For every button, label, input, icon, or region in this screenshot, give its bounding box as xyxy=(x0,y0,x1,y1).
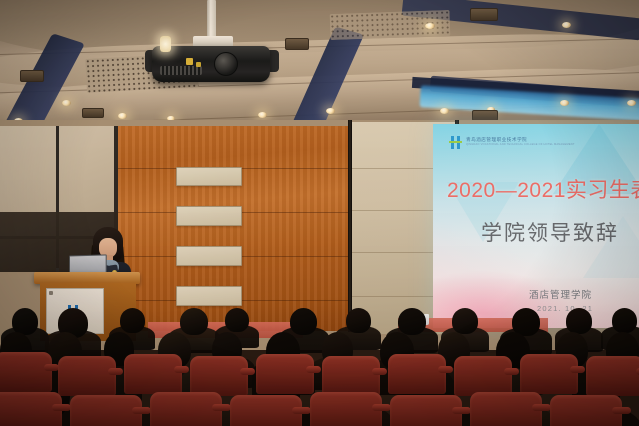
seat-armrest xyxy=(292,407,311,414)
ceiling-vent-icon xyxy=(82,108,104,118)
seat-armrest xyxy=(240,368,255,375)
projector-vent-icon xyxy=(160,66,202,75)
seat-armrest xyxy=(532,404,551,411)
auditorium-seat[interactable] xyxy=(470,392,542,426)
seat-armrest xyxy=(52,404,71,411)
auditorium-seat[interactable] xyxy=(322,356,380,396)
auditorium-seat[interactable] xyxy=(58,356,116,396)
downlight-icon xyxy=(440,108,449,114)
audience-head xyxy=(180,308,208,335)
seat-armrest xyxy=(212,404,231,411)
auditorium-photo: 青岛酒店管理职业技术学院 QINGDAO VOCATIONAL AND TECH… xyxy=(0,0,639,426)
projector-indicator-icon xyxy=(186,58,193,65)
projection-screen: 青岛酒店管理职业技术学院 QINGDAO VOCATIONAL AND TECH… xyxy=(433,124,639,328)
slide-logo: 青岛酒店管理职业技术学院 QINGDAO VOCATIONAL AND TECH… xyxy=(449,136,575,149)
auditorium-seat[interactable] xyxy=(388,354,446,394)
projector-lens-icon xyxy=(214,52,238,76)
downlight-icon xyxy=(258,112,267,118)
audience-head xyxy=(566,308,592,334)
seat-armrest xyxy=(612,407,631,414)
seat-armrest xyxy=(372,404,391,411)
auditorium-seat[interactable] xyxy=(190,356,248,396)
audience-head xyxy=(290,308,317,335)
seat-armrest xyxy=(44,364,59,371)
logo-english-name: QINGDAO VOCATIONAL AND TECHNICAL COLLEGE… xyxy=(466,144,575,147)
auditorium-seat[interactable] xyxy=(0,352,52,392)
ceiling-vent-icon xyxy=(285,38,309,50)
downlight-icon xyxy=(627,100,636,106)
ceiling-vent-icon xyxy=(20,70,44,82)
wall-acoustic-panel xyxy=(176,206,242,226)
podium-small-mark-icon xyxy=(49,291,53,295)
projector-pole xyxy=(207,0,216,40)
auditorium-seat[interactable] xyxy=(586,356,639,396)
seat-armrest xyxy=(306,366,321,373)
downlight-icon xyxy=(560,100,569,106)
seat-armrest xyxy=(452,407,471,414)
auditorium-seat[interactable] xyxy=(454,356,512,396)
auditorium-seat[interactable] xyxy=(310,392,382,426)
audience-head xyxy=(452,308,478,334)
audience-head xyxy=(398,308,426,335)
slide-title: 2020—2021实习生表 xyxy=(447,174,639,204)
slide-organization: 酒店管理学院 xyxy=(529,287,592,301)
downlight-icon xyxy=(562,22,571,28)
auditorium-seat[interactable] xyxy=(124,354,182,394)
slide-subtitle: 学院领导致辞 xyxy=(481,217,619,247)
auditorium-seat[interactable] xyxy=(256,354,314,394)
seat-armrest xyxy=(438,366,453,373)
ceiling-vent-icon xyxy=(470,8,498,21)
audience-head xyxy=(12,308,38,335)
seat-armrest xyxy=(504,368,519,375)
audience-head xyxy=(120,308,145,333)
auditorium-seat[interactable] xyxy=(150,392,222,426)
audience-head xyxy=(225,308,249,332)
college-logo-mark-icon xyxy=(449,136,462,149)
seat-armrest xyxy=(132,407,151,414)
audience-head xyxy=(346,308,371,333)
downlight-icon xyxy=(326,108,335,114)
seat-armrest xyxy=(174,366,189,373)
projector-indicator-icon xyxy=(196,62,201,67)
wall-acoustic-panel xyxy=(176,167,242,186)
downlight-icon xyxy=(62,100,71,106)
downlight-icon xyxy=(425,23,435,29)
seat-armrest xyxy=(108,368,123,375)
audience-area xyxy=(0,300,639,426)
wall-acoustic-panel xyxy=(176,246,242,266)
downlight-icon xyxy=(118,113,127,119)
audience-head xyxy=(612,308,637,333)
auditorium-seat[interactable] xyxy=(520,354,578,394)
seat-armrest xyxy=(570,366,585,373)
projector-lamp-indicator-icon xyxy=(160,36,171,52)
seat-armrest xyxy=(372,368,387,375)
